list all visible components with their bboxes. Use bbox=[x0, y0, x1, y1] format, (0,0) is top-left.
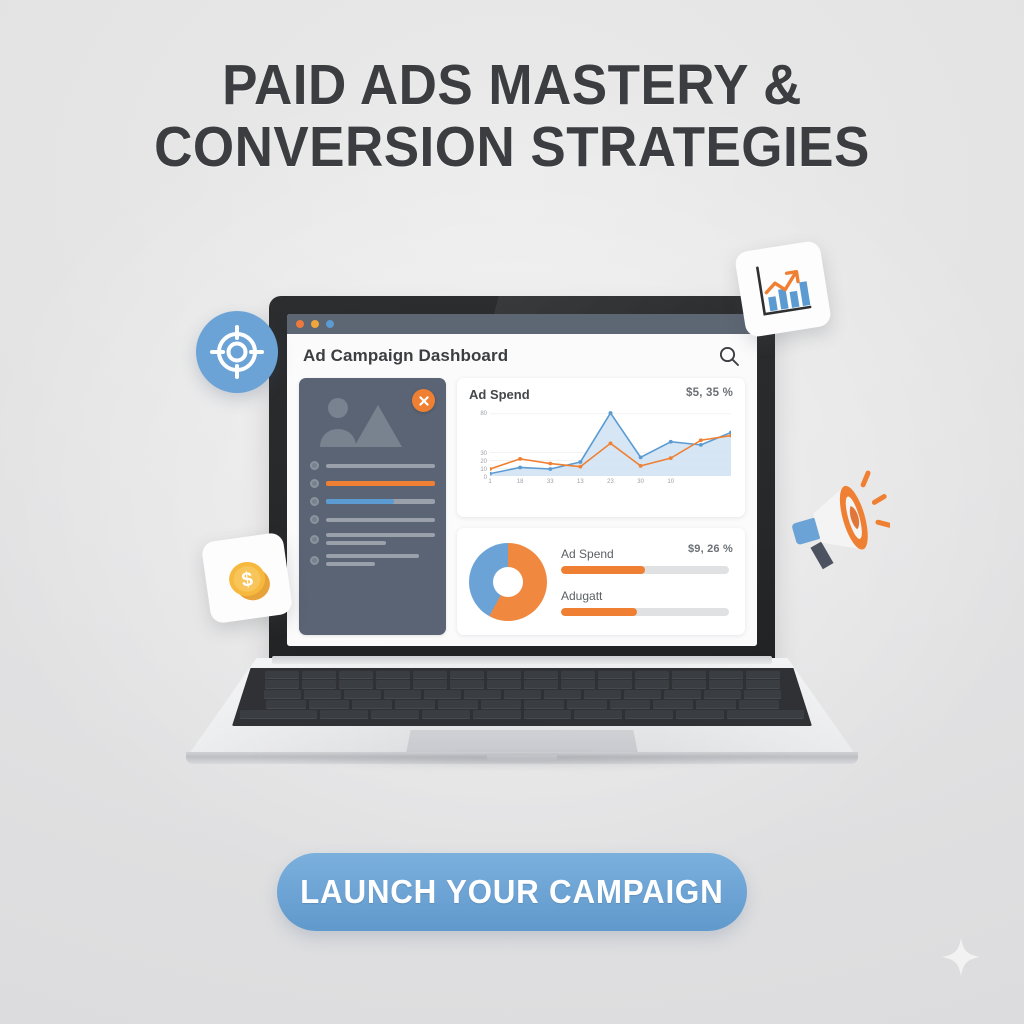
keyboard-row bbox=[232, 671, 812, 679]
radio-dot-icon bbox=[310, 497, 319, 506]
image-placeholder-icon bbox=[312, 393, 433, 449]
placeholder-bar bbox=[326, 533, 435, 537]
page-title: PAID ADS MASTERY & CONVERSION STRATEGIES bbox=[0, 58, 1024, 176]
keyboard-key[interactable] bbox=[302, 680, 336, 689]
radio-dot-icon bbox=[310, 535, 319, 544]
highlight-bar-orange bbox=[326, 481, 435, 486]
keyboard-key[interactable] bbox=[352, 700, 392, 709]
laptop-shadow bbox=[216, 756, 828, 774]
placeholder-bars bbox=[326, 464, 435, 468]
metric-progress-2-fill bbox=[561, 608, 637, 616]
keyboard-key[interactable] bbox=[320, 710, 368, 719]
metric-progress-1-fill bbox=[561, 566, 645, 574]
keyboard-key[interactable] bbox=[598, 671, 632, 679]
list-item[interactable] bbox=[310, 479, 435, 488]
split-card-value: $9, 26 % bbox=[688, 543, 733, 555]
keyboard-key[interactable] bbox=[264, 690, 301, 699]
keyboard-key[interactable] bbox=[422, 710, 470, 719]
keyboard-row bbox=[232, 700, 812, 709]
chart-x-tick-label: 10 bbox=[667, 479, 674, 485]
keyboard-key[interactable] bbox=[561, 680, 595, 689]
placeholder-bars bbox=[326, 518, 435, 522]
keyboard-key[interactable] bbox=[746, 671, 780, 679]
chart-y-tick-label: 30 bbox=[480, 451, 487, 457]
keyboard-key[interactable] bbox=[709, 680, 743, 689]
chart-x-tick-label: 30 bbox=[637, 479, 644, 485]
chart-y-tick-label: 0 bbox=[484, 475, 487, 481]
list-item[interactable] bbox=[310, 497, 435, 506]
keyboard-key[interactable] bbox=[574, 710, 622, 719]
keyboard-key[interactable] bbox=[464, 690, 501, 699]
window-maximize-dot[interactable] bbox=[326, 320, 334, 328]
keyboard-key[interactable] bbox=[438, 700, 478, 709]
placeholder-bar bbox=[326, 464, 435, 468]
target-icon-badge[interactable] bbox=[196, 311, 278, 393]
radio-dot-icon bbox=[310, 461, 319, 470]
app-header: Ad Campaign Dashboard bbox=[287, 334, 757, 378]
keyboard-key[interactable] bbox=[598, 680, 632, 689]
coins-dollar-icon-tile[interactable]: $ bbox=[201, 532, 294, 625]
keyboard-key[interactable] bbox=[625, 710, 673, 719]
close-x-icon[interactable] bbox=[412, 389, 435, 412]
search-icon[interactable] bbox=[717, 344, 741, 368]
keyboard-key[interactable] bbox=[265, 671, 299, 679]
keyboard-key[interactable] bbox=[240, 710, 317, 719]
keyboard-key[interactable] bbox=[672, 671, 706, 679]
cards-column: Ad Spend $5, 35 % 010203080 118331323301… bbox=[457, 378, 745, 635]
keyboard-key[interactable] bbox=[376, 671, 410, 679]
target-icon bbox=[196, 311, 278, 393]
placeholder-bar bbox=[326, 562, 375, 566]
keyboard-key[interactable] bbox=[653, 700, 693, 709]
list-item[interactable] bbox=[310, 554, 435, 566]
launch-campaign-button-label: LAUNCH YOUR CAMPAIGN bbox=[300, 873, 723, 911]
chart-x-tick-label: 33 bbox=[547, 479, 554, 485]
keyboard-key[interactable] bbox=[524, 671, 558, 679]
chart-plot-area bbox=[490, 406, 731, 476]
bar-chart-growth-icon-tile[interactable] bbox=[734, 240, 832, 338]
keyboard-key[interactable] bbox=[672, 680, 706, 689]
laptop-mockup: Ad Campaign Dashboard bbox=[186, 296, 858, 776]
chart-x-tick-label: 23 bbox=[607, 479, 614, 485]
placeholder-bar bbox=[326, 541, 386, 545]
laptop-trackpad[interactable] bbox=[406, 730, 638, 754]
metric-progress-1 bbox=[561, 566, 729, 574]
keyboard-key[interactable] bbox=[302, 671, 336, 679]
keyboard-key[interactable] bbox=[339, 680, 373, 689]
sparkle-icon bbox=[938, 936, 984, 982]
keyboard-key[interactable] bbox=[696, 700, 736, 709]
keyboard-key[interactable] bbox=[487, 680, 521, 689]
keyboard-key[interactable] bbox=[610, 700, 650, 709]
keyboard-key[interactable] bbox=[487, 671, 521, 679]
keyboard-key[interactable] bbox=[376, 680, 410, 689]
page-title-line-1: PAID ADS MASTERY & bbox=[36, 58, 988, 113]
keyboard-key[interactable] bbox=[309, 700, 349, 709]
bar-chart-growth-icon bbox=[734, 240, 832, 338]
radio-dot-icon bbox=[310, 479, 319, 488]
keyboard-key[interactable] bbox=[624, 690, 661, 699]
chart-x-axis: 1183313233010 bbox=[490, 478, 731, 490]
keyboard-key[interactable] bbox=[524, 700, 564, 709]
chart-y-tick-label: 10 bbox=[480, 467, 487, 473]
laptop-lid: Ad Campaign Dashboard bbox=[269, 296, 775, 668]
chart-x-tick-label: 13 bbox=[577, 479, 584, 485]
keyboard-key[interactable] bbox=[304, 690, 341, 699]
list-item[interactable] bbox=[310, 533, 435, 545]
page-title-line-2: CONVERSION STRATEGIES bbox=[36, 120, 988, 175]
chart-x-tick-label: 1 bbox=[488, 479, 491, 485]
keyboard-key[interactable] bbox=[371, 710, 419, 719]
keyboard-row bbox=[232, 690, 812, 699]
keyboard-key[interactable] bbox=[584, 690, 621, 699]
keyboard-key[interactable] bbox=[481, 700, 521, 709]
keyboard-key[interactable] bbox=[739, 700, 779, 709]
keyboard-key[interactable] bbox=[727, 710, 804, 719]
keyboard-key[interactable] bbox=[413, 671, 447, 679]
keyboard-key[interactable] bbox=[344, 690, 381, 699]
window-body: Ad Campaign Dashboard bbox=[287, 334, 757, 646]
keyboard-key[interactable] bbox=[384, 690, 421, 699]
keyboard-key[interactable] bbox=[395, 700, 435, 709]
radio-dot-icon bbox=[310, 556, 319, 565]
keyboard-key[interactable] bbox=[524, 680, 558, 689]
launch-campaign-button[interactable]: LAUNCH YOUR CAMPAIGN bbox=[277, 853, 747, 931]
laptop-keyboard bbox=[232, 668, 812, 726]
window-minimize-dot[interactable] bbox=[311, 320, 319, 328]
laptop-hinge bbox=[272, 656, 772, 664]
placeholder-bar bbox=[326, 518, 435, 522]
donut-chart bbox=[469, 543, 547, 621]
placeholder-bar bbox=[326, 554, 419, 558]
metric-progress-2 bbox=[561, 608, 729, 616]
keyboard-key[interactable] bbox=[424, 690, 461, 699]
keyboard-key[interactable] bbox=[561, 671, 595, 679]
keyboard-row bbox=[232, 680, 812, 689]
keyboard-key[interactable] bbox=[265, 680, 299, 689]
window-close-dot[interactable] bbox=[296, 320, 304, 328]
progress-bar-blue bbox=[326, 499, 435, 504]
keyboard-key[interactable] bbox=[567, 700, 607, 709]
megaphone-icon[interactable] bbox=[780, 466, 890, 581]
keyboard-key[interactable] bbox=[676, 710, 724, 719]
donut-hole bbox=[493, 567, 523, 597]
dashboard-content: Ad Spend $5, 35 % 010203080 118331323301… bbox=[299, 378, 745, 635]
chart-y-tick-label: 20 bbox=[480, 459, 487, 465]
chart-card-header: Ad Spend $5, 35 % bbox=[469, 387, 733, 402]
keyboard-key[interactable] bbox=[704, 690, 741, 699]
placeholder-bars bbox=[326, 481, 435, 486]
keyboard-key[interactable] bbox=[709, 671, 743, 679]
laptop-base bbox=[186, 658, 858, 776]
budget-breakdown-card: $9, 26 % Ad Spend Adugatt bbox=[457, 528, 745, 635]
placeholder-bars bbox=[326, 554, 435, 566]
window-titlebar bbox=[287, 314, 757, 334]
list-item[interactable] bbox=[310, 461, 435, 470]
list-item[interactable] bbox=[310, 515, 435, 524]
keyboard-key[interactable] bbox=[413, 680, 447, 689]
keyboard-key[interactable] bbox=[339, 671, 373, 679]
keyboard-key[interactable] bbox=[450, 680, 484, 689]
radio-dot-icon bbox=[310, 515, 319, 524]
keyboard-key[interactable] bbox=[744, 690, 781, 699]
keyboard-key[interactable] bbox=[635, 680, 669, 689]
chart-x-tick-label: 18 bbox=[517, 479, 524, 485]
keyboard-row bbox=[232, 710, 812, 719]
line-chart: 010203080 1183313233010 bbox=[469, 404, 733, 490]
keyboard-key[interactable] bbox=[635, 671, 669, 679]
metrics-list: $9, 26 % Ad Spend Adugatt bbox=[561, 547, 733, 616]
chart-card-value: $5, 35 % bbox=[686, 387, 733, 399]
keyboard-key[interactable] bbox=[473, 710, 521, 719]
keyboard-key[interactable] bbox=[450, 671, 484, 679]
chart-y-axis: 010203080 bbox=[469, 404, 489, 476]
chart-card-title: Ad Spend bbox=[469, 387, 530, 402]
metric-label-2: Adugatt bbox=[561, 589, 729, 603]
ad-spend-chart-card: Ad Spend $5, 35 % 010203080 118331323301… bbox=[457, 378, 745, 517]
chart-y-tick-label: 80 bbox=[480, 411, 487, 417]
keyboard-key[interactable] bbox=[266, 700, 306, 709]
placeholder-bars bbox=[326, 499, 435, 504]
keyboard-key[interactable] bbox=[524, 710, 572, 719]
keyboard-key[interactable] bbox=[664, 690, 701, 699]
keyboard-key[interactable] bbox=[504, 690, 541, 699]
laptop-screen: Ad Campaign Dashboard bbox=[287, 314, 757, 646]
keyboard-key[interactable] bbox=[746, 680, 780, 689]
keyboard-key[interactable] bbox=[544, 690, 581, 699]
sidebar-panel bbox=[299, 378, 446, 635]
dashboard-title: Ad Campaign Dashboard bbox=[303, 346, 508, 366]
placeholder-bars bbox=[326, 533, 435, 545]
coins-dollar-icon: $ bbox=[201, 532, 294, 625]
